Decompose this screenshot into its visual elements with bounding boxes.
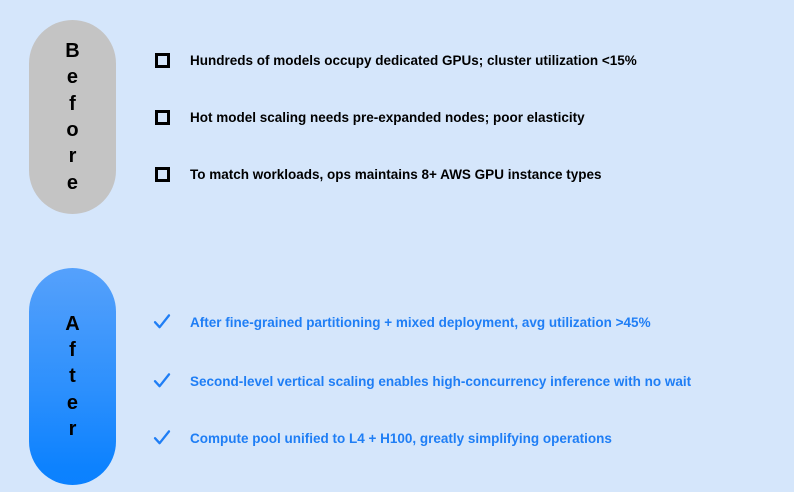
after-pill-letter: e	[67, 390, 78, 416]
before-bullet-item: To match workloads, ops maintains 8+ AWS…	[152, 162, 601, 186]
after-bullet-text: Compute pool unified to L4 + H100, great…	[190, 431, 612, 446]
before-pill-letter: B	[65, 38, 79, 64]
after-bullet-item: After fine-grained partitioning + mixed …	[152, 310, 651, 334]
before-after-comparison-slide: B e f o r e Hundreds of models occupy de…	[0, 0, 794, 492]
before-pill-letter: e	[67, 170, 78, 196]
before-bullet-item: Hundreds of models occupy dedicated GPUs…	[152, 48, 637, 72]
before-pill-letter: r	[69, 143, 77, 169]
before-bullet-text: Hundreds of models occupy dedicated GPUs…	[190, 53, 637, 68]
after-pill-letter: t	[69, 363, 76, 389]
square-outline-icon	[152, 53, 190, 68]
checkmark-icon	[152, 429, 190, 447]
before-pill-letter: f	[69, 91, 76, 117]
before-pill-letter: e	[67, 64, 78, 90]
after-pill-letter: r	[69, 416, 77, 442]
before-pill-label: B e f o r e	[65, 38, 79, 196]
after-pill-letter: A	[65, 311, 79, 337]
after-bullet-text: Second-level vertical scaling enables hi…	[190, 374, 691, 389]
before-section-pill: B e f o r e	[29, 20, 116, 214]
checkmark-icon	[152, 313, 190, 331]
before-pill-letter: o	[66, 117, 78, 143]
after-bullet-text: After fine-grained partitioning + mixed …	[190, 315, 651, 330]
square-outline-icon	[152, 167, 190, 182]
after-pill-label: A f t e r	[65, 311, 79, 443]
before-bullet-text: To match workloads, ops maintains 8+ AWS…	[190, 167, 601, 182]
checkmark-icon	[152, 372, 190, 390]
before-bullet-text: Hot model scaling needs pre-expanded nod…	[190, 110, 585, 125]
after-section-pill: A f t e r	[29, 268, 116, 485]
before-bullet-item: Hot model scaling needs pre-expanded nod…	[152, 105, 585, 129]
after-pill-letter: f	[69, 337, 76, 363]
after-bullet-item: Compute pool unified to L4 + H100, great…	[152, 426, 612, 450]
after-bullet-item: Second-level vertical scaling enables hi…	[152, 369, 691, 393]
square-outline-icon	[152, 110, 190, 125]
